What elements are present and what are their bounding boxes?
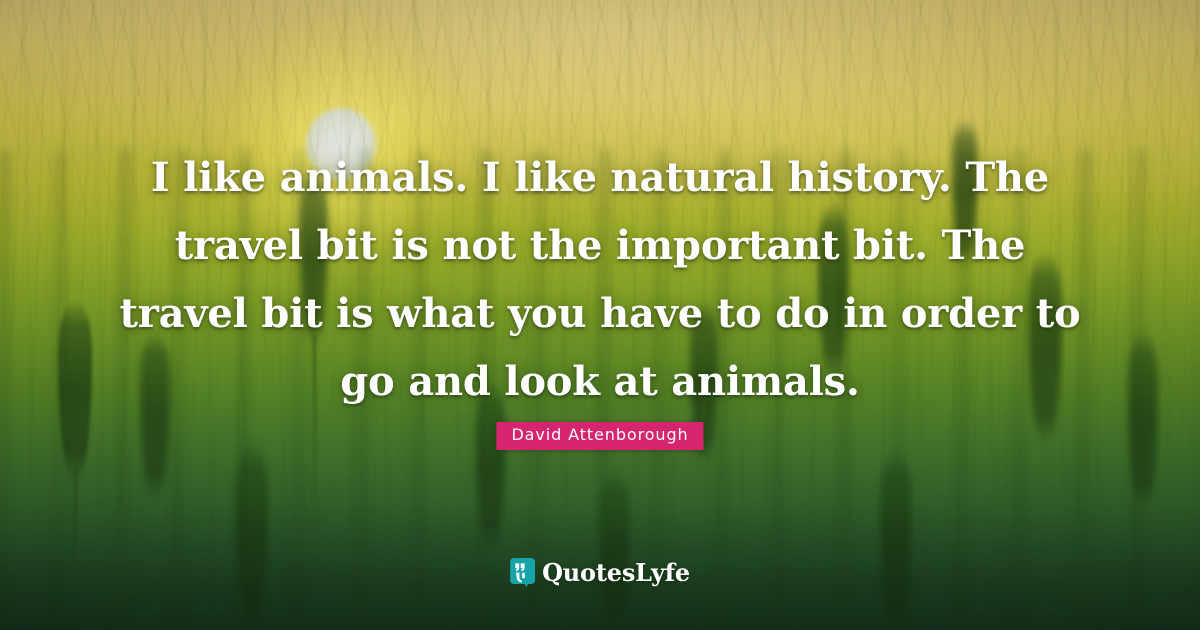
quote-card: I like animals. I like natural history. …	[0, 0, 1200, 630]
card-content: I like animals. I like natural history. …	[0, 0, 1200, 630]
quote-text-block: I like animals. I like natural history. …	[100, 144, 1100, 416]
quote-line: go and look at animals.	[100, 348, 1100, 416]
brand-name: QuotesLyfe	[542, 559, 690, 587]
brand-logo[interactable]: QuotesLyfe	[510, 558, 690, 588]
quote-line: I like animals. I like natural history. …	[100, 144, 1100, 212]
author-badge: David Attenborough	[496, 422, 703, 450]
quote-line: travel bit is what you have to do in ord…	[100, 280, 1100, 348]
quote-bubble-icon	[510, 558, 535, 588]
quote-line: travel bit is not the important bit. The	[100, 212, 1100, 280]
